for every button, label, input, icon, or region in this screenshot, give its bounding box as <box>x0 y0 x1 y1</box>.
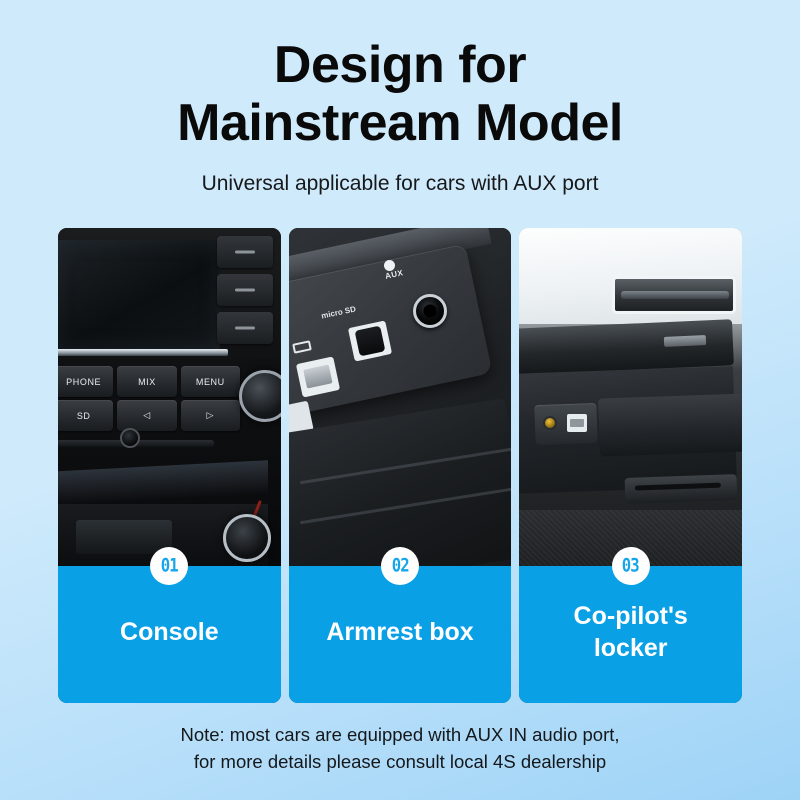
side-button <box>217 236 273 268</box>
stereo-button-phone: PHONE <box>58 366 113 397</box>
card-label-area-console: 01 Console <box>58 566 281 703</box>
card-label-armrest-box: Armrest box <box>318 617 481 648</box>
aux-jack-port <box>413 294 447 328</box>
side-button-stack <box>217 236 273 350</box>
stereo-button-row-top: PHONE MIX MENU <box>58 366 240 397</box>
card-label-area-co-pilot: 03 Co-pilot'slocker <box>519 566 742 703</box>
card-console[interactable]: PHONE MIX MENU SD ◁ ▷ 01 Console <box>58 228 281 703</box>
climate-knob <box>223 514 271 562</box>
badge-02: 02 <box>381 547 419 585</box>
photo-co-pilot-locker-ports <box>519 228 742 566</box>
chrome-trim <box>58 349 228 356</box>
stereo-button-prev-icon: ◁ <box>117 400 176 431</box>
tuning-knob <box>239 370 281 422</box>
stereo-screen <box>58 240 220 350</box>
usb-port <box>567 414 587 432</box>
headline-line-1: Design for <box>274 36 526 94</box>
card-co-pilot-locker[interactable]: 03 Co-pilot'slocker <box>519 228 742 703</box>
headline-line-2: Mainstream Model <box>0 94 800 152</box>
climate-display <box>76 520 172 554</box>
photo-armrest-box-port-panel: AUX micro SD <box>289 228 512 566</box>
page-title: Design for Mainstream Model <box>0 36 800 152</box>
badge-number: 01 <box>161 555 178 577</box>
card-label-co-pilot-locker: Co-pilot'slocker <box>566 601 696 664</box>
footer-note-line-2: for more details please consult local 4S… <box>0 749 800 776</box>
side-button <box>217 312 273 344</box>
page-subtitle: Universal applicable for cars with AUX p… <box>0 172 800 196</box>
aux-jack-icon <box>120 428 140 448</box>
badge-03: 03 <box>612 547 650 585</box>
card-armrest-box[interactable]: AUX micro SD 02 Armrest box <box>289 228 512 703</box>
stereo-button-sd: SD <box>58 400 113 431</box>
footer-note: Note: most cars are equipped with AUX IN… <box>0 722 800 776</box>
header: Design for Mainstream Model Universal ap… <box>0 0 800 196</box>
locker-handle <box>664 335 706 347</box>
lower-slot <box>625 474 738 504</box>
card-label-console: Console <box>112 617 227 648</box>
stereo-button-next-icon: ▷ <box>181 400 240 431</box>
badge-number: 02 <box>391 555 408 577</box>
card-grid: PHONE MIX MENU SD ◁ ▷ 01 Console <box>58 228 742 703</box>
photo-car-stereo-head-unit: PHONE MIX MENU SD ◁ ▷ <box>58 228 281 566</box>
footer-note-line-1: Note: most cars are equipped with AUX IN… <box>0 722 800 749</box>
card-label-area-armrest: 02 Armrest box <box>289 566 512 703</box>
badge-01: 01 <box>150 547 188 585</box>
stereo-button-mix: MIX <box>117 366 176 397</box>
side-button <box>217 274 273 306</box>
air-vent <box>612 276 736 314</box>
badge-number: 03 <box>622 555 639 577</box>
stereo-button-menu: MENU <box>181 366 240 397</box>
stereo-button-row-bottom: SD ◁ ▷ <box>58 400 240 431</box>
locker-shelf <box>598 393 742 456</box>
armrest-tray <box>289 398 512 566</box>
